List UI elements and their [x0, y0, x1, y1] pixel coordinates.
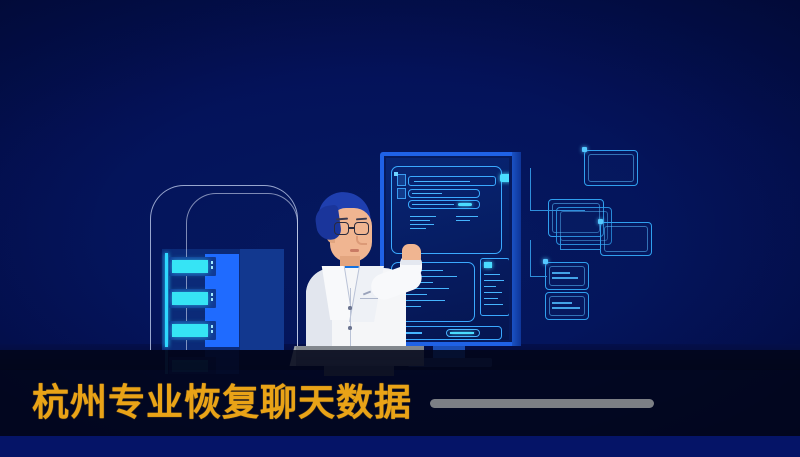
coat-button: [348, 306, 352, 310]
eyeglasses-icon: [334, 222, 370, 235]
bottom-strip: [0, 436, 800, 457]
floating-window: [545, 262, 589, 290]
screen-accent-chip: [500, 174, 509, 182]
sleeve-cuff: [400, 260, 422, 265]
window-connector: [530, 168, 585, 211]
server-rack: [150, 185, 300, 350]
caption-title: 杭州专业恢复聊天数据: [32, 372, 412, 426]
floating-window-dot: [598, 219, 603, 224]
caption-underline-bar: [430, 399, 654, 408]
scientist-character: [300, 192, 440, 357]
lab-coat-pocket: [360, 298, 378, 307]
floating-window: [600, 222, 652, 256]
server-rack-led-rail: [165, 253, 168, 347]
mouth: [350, 249, 359, 252]
server-slot: [169, 321, 216, 340]
server-slot: [169, 289, 216, 308]
server-slot: [169, 257, 216, 276]
banner-image: 杭州专业恢复聊天数据: [0, 0, 800, 457]
window-connector: [530, 240, 547, 277]
nose: [356, 236, 367, 245]
monitor-side-edge: [512, 152, 521, 346]
floating-window: [545, 292, 589, 320]
window-connector: [560, 237, 601, 250]
floating-window: [584, 150, 638, 186]
coat-button: [348, 326, 352, 330]
floating-window-dot: [582, 147, 587, 152]
screen-icon-block: [397, 174, 406, 186]
